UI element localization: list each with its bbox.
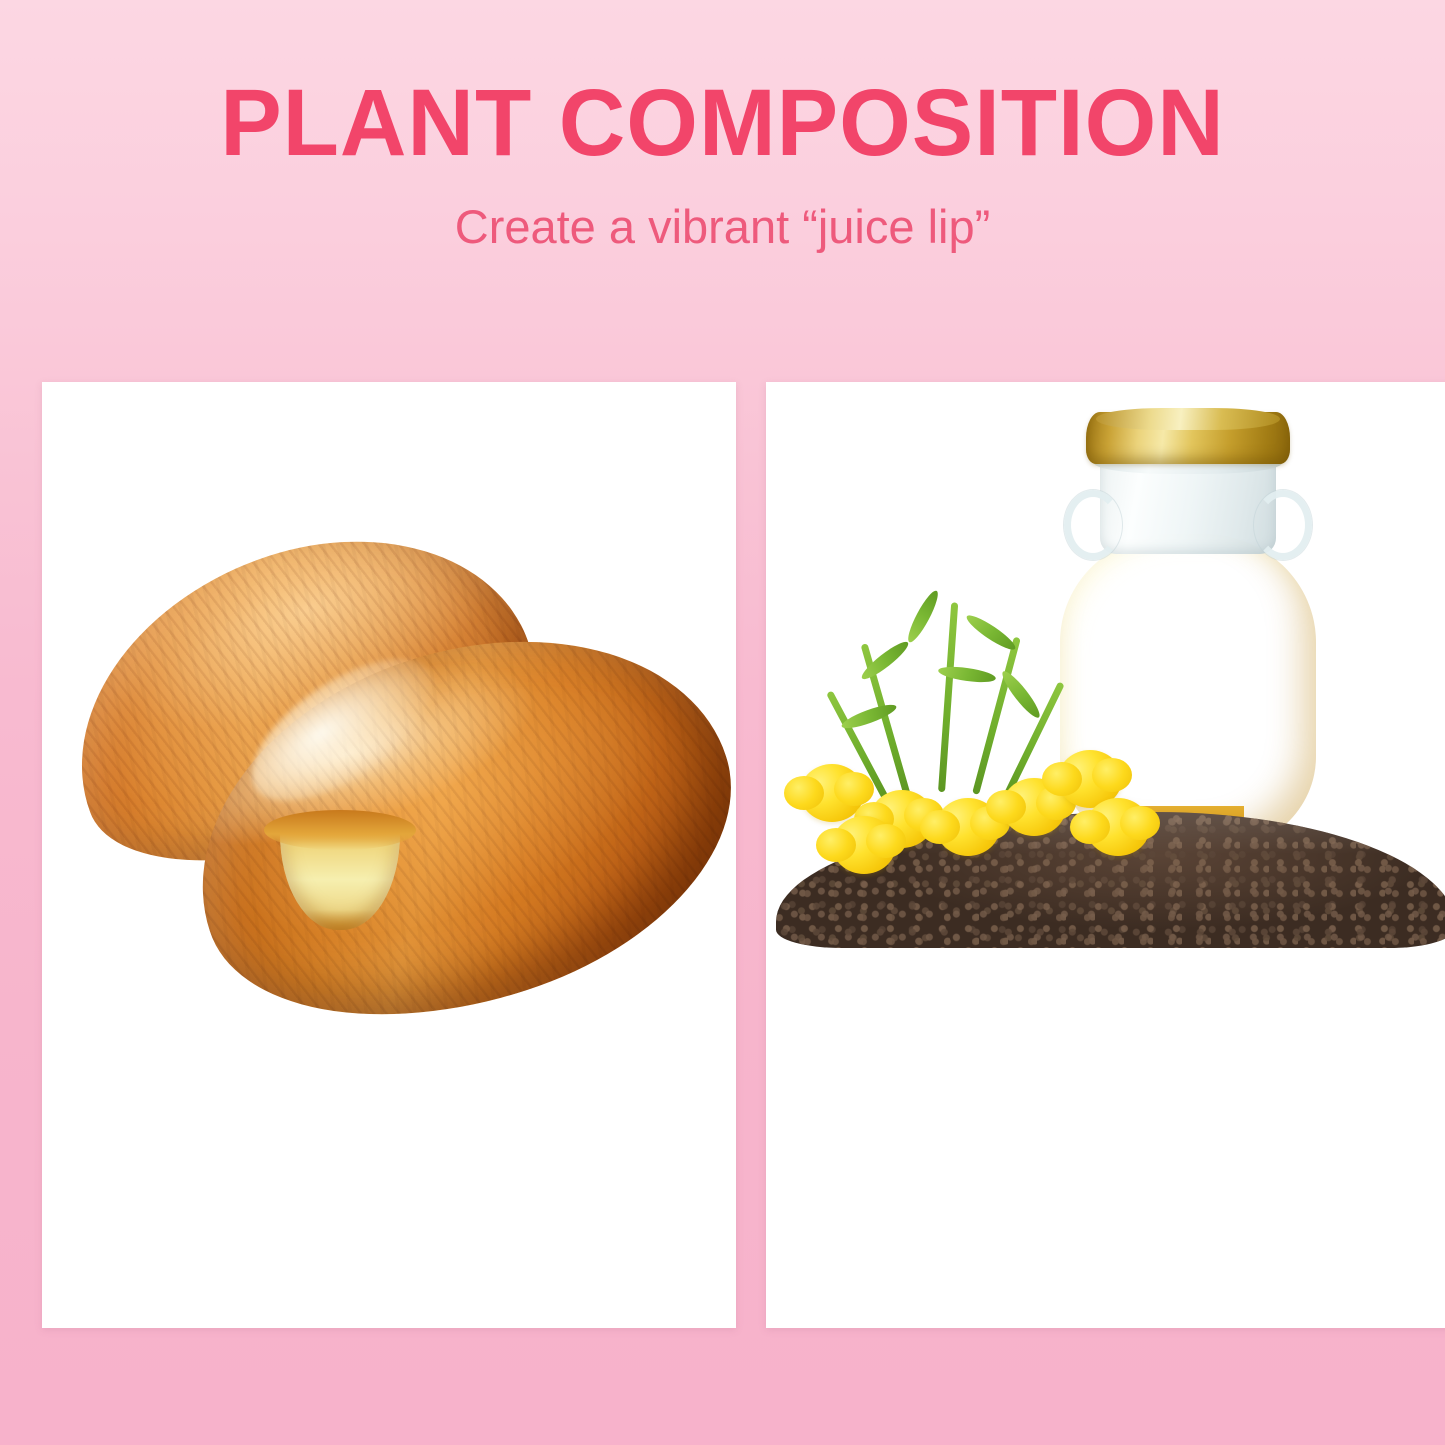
jar-lid-top — [1096, 408, 1280, 430]
leaf — [904, 588, 943, 645]
ingredient-card-peach-kernel-oil[interactable]: PRUNUS PERSICA (PEACH) KERNEL OIL — [42, 382, 736, 1328]
flower-stem — [938, 602, 958, 792]
rapeseed-flower — [832, 816, 896, 874]
rapeseed-flower — [1086, 798, 1150, 856]
ingredient-card-candelilla-murumuru[interactable]: CIRE DE CANDELILLA ASTROCARYUM MURUMURU … — [766, 382, 1445, 1328]
oil-jar-image — [766, 382, 1445, 1172]
jar-clip-right — [1254, 490, 1312, 560]
leaf — [963, 611, 1018, 654]
peach-kernel-image — [42, 382, 736, 1172]
image-fade — [42, 1108, 736, 1172]
peach-kernels-illustration — [42, 382, 736, 1172]
ingredient-card-row: PRUNUS PERSICA (PEACH) KERNEL OIL — [0, 382, 1445, 1328]
poster-header: PLANT COMPOSITION Create a vibrant “juic… — [0, 0, 1445, 253]
image-fade — [766, 1108, 1445, 1172]
jar-clip-left — [1064, 490, 1122, 560]
plant-composition-poster: PLANT COMPOSITION Create a vibrant “juic… — [0, 0, 1445, 1445]
page-subtitle: Create a vibrant “juice lip” — [0, 171, 1445, 253]
rapeseed-foliage — [786, 592, 1166, 872]
oil-jar-scene — [766, 382, 1445, 1172]
page-title: PLANT COMPOSITION — [22, 0, 1424, 171]
